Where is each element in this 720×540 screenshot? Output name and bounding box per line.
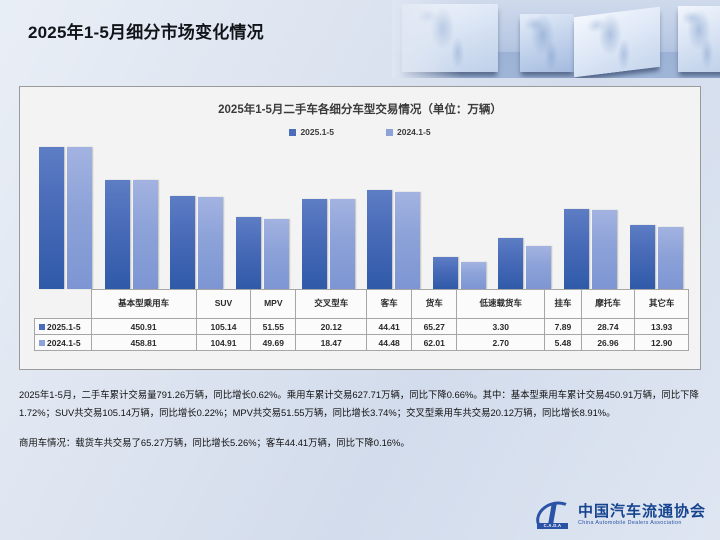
body-paragraph-2: 商用车情况：载货车共交易了65.27万辆，同比增长5.26%；客车44.41万辆…: [19, 434, 703, 452]
cada-logo-icon: C.A.D.A: [534, 500, 572, 530]
graphic-fade-mask: [392, 0, 462, 78]
bar-group: [623, 147, 689, 289]
table-cell: 26.96: [581, 335, 635, 351]
legend-swatch-icon: [289, 129, 296, 136]
bar-series-2025: [105, 180, 130, 289]
bar-group: [99, 147, 165, 289]
table-column-header: 其它车: [635, 290, 689, 319]
bar-group: [558, 147, 624, 289]
legend-item-2024: 2024.1-5: [386, 127, 431, 137]
table-column-header: 交叉型车: [296, 290, 367, 319]
decorative-cubes-graphic: [392, 0, 720, 78]
logo-mark-text: C.A.D.A: [537, 523, 568, 529]
table-header-row: 基本型乘用车SUVMPV交叉型车客车货车低速载货车挂车摩托车其它车: [35, 290, 689, 319]
table-cell: 65.27: [412, 319, 457, 335]
bar-series-2025: [433, 257, 458, 289]
bar-series-2024: [133, 180, 158, 289]
bar-group: [492, 147, 558, 289]
legend-label: 2025.1-5: [300, 127, 334, 137]
table-column-header: SUV: [196, 290, 251, 319]
bar-series-2024: [395, 192, 420, 289]
table-column-header: MPV: [251, 290, 296, 319]
table-cell: 3.30: [457, 319, 545, 335]
bar-series-2024: [67, 147, 92, 289]
bar-series-2024: [330, 199, 355, 289]
table-column-header: 货车: [412, 290, 457, 319]
table-column-header: 客车: [367, 290, 412, 319]
table-row: 2024.1-5458.81104.9149.6918.4744.4862.01…: [35, 335, 689, 351]
table-corner-cell: [35, 290, 92, 319]
bar-group: [230, 147, 296, 289]
table-cell: 51.55: [251, 319, 296, 335]
bar-group: [427, 147, 493, 289]
legend-item-2025: 2025.1-5: [289, 127, 334, 137]
table-cell: 28.74: [581, 319, 635, 335]
bar-series-2024: [264, 219, 289, 289]
decorative-cube: [574, 7, 660, 78]
table-cell: 44.41: [367, 319, 412, 335]
table-cell: 105.14: [196, 319, 251, 335]
row-legend-swatch-icon: [39, 340, 45, 346]
bar-group: [33, 147, 99, 289]
decorative-cube: [520, 14, 574, 72]
bar-series-2025: [170, 196, 195, 289]
table-cell: 104.91: [196, 335, 251, 351]
legend-label: 2024.1-5: [397, 127, 431, 137]
chart-data-table: 基本型乘用车SUVMPV交叉型车客车货车低速载货车挂车摩托车其它车 2025.1…: [34, 289, 689, 351]
logo-name-cn: 中国汽车流通协会: [578, 504, 706, 520]
table-row: 2025.1-5450.91105.1451.5520.1244.4165.27…: [35, 319, 689, 335]
table-cell: 458.81: [91, 335, 196, 351]
organization-logo: C.A.D.A 中国汽车流通协会 China Automobile Dealer…: [534, 500, 706, 530]
bar-series-2024: [658, 227, 683, 289]
body-text: 2025年1-5月，二手车累计交易量791.26万辆，同比增长0.62%。乘用车…: [19, 386, 703, 463]
body-paragraph-1: 2025年1-5月，二手车累计交易量791.26万辆，同比增长0.62%。乘用车…: [19, 386, 703, 423]
bar-group: [295, 147, 361, 289]
table-cell: 7.89: [545, 319, 581, 335]
table-cell: 20.12: [296, 319, 367, 335]
bar-series-2025: [630, 225, 655, 289]
legend-swatch-icon: [386, 129, 393, 136]
bar-series-2024: [526, 246, 551, 289]
table-body: 2025.1-5450.91105.1451.5520.1244.4165.27…: [35, 319, 689, 351]
bar-series-2025: [367, 190, 392, 289]
chart-title: 2025年1-5月二手车各细分车型交易情况（单位：万辆）: [20, 101, 700, 117]
bar-group: [164, 147, 230, 289]
bar-series-2025: [564, 209, 589, 289]
table-cell: 12.90: [635, 335, 689, 351]
chart-legend: 2025.1-5 2024.1-5: [20, 127, 700, 137]
table-cell: 5.48: [545, 335, 581, 351]
bar-series-2024: [461, 262, 486, 289]
bar-series-2025: [39, 147, 64, 289]
table-cell: 44.48: [367, 335, 412, 351]
table-row-label: 2025.1-5: [35, 319, 92, 335]
table-cell: 62.01: [412, 335, 457, 351]
table-cell: 450.91: [91, 319, 196, 335]
table-cell: 49.69: [251, 335, 296, 351]
logo-text-block: 中国汽车流通协会 China Automobile Dealers Associ…: [578, 504, 706, 526]
bar-series-2024: [592, 210, 617, 289]
bar-series-2025: [302, 199, 327, 289]
chart-panel: 2025年1-5月二手车各细分车型交易情况（单位：万辆） 2025.1-5 20…: [19, 86, 701, 370]
bar-chart-plot-area: [33, 147, 689, 289]
slide-canvas: 2025年1-5月细分市场变化情况 2025年1-5月二手车各细分车型交易情况（…: [0, 0, 720, 540]
table-cell: 18.47: [296, 335, 367, 351]
table-cell: 13.93: [635, 319, 689, 335]
table-head: 基本型乘用车SUVMPV交叉型车客车货车低速载货车挂车摩托车其它车: [35, 290, 689, 319]
slide-title: 2025年1-5月细分市场变化情况: [28, 18, 264, 43]
bar-series-2025: [236, 217, 261, 289]
table-column-header: 摩托车: [581, 290, 635, 319]
bar-group: [361, 147, 427, 289]
decorative-cube: [678, 6, 720, 72]
bar-series-2025: [498, 238, 523, 289]
table-column-header: 挂车: [545, 290, 581, 319]
table-column-header: 基本型乘用车: [91, 290, 196, 319]
table-column-header: 低速载货车: [457, 290, 545, 319]
bar-series-2024: [198, 197, 223, 289]
table-cell: 2.70: [457, 335, 545, 351]
logo-name-en: China Automobile Dealers Association: [578, 520, 706, 526]
row-legend-swatch-icon: [39, 324, 45, 330]
table-row-label: 2024.1-5: [35, 335, 92, 351]
